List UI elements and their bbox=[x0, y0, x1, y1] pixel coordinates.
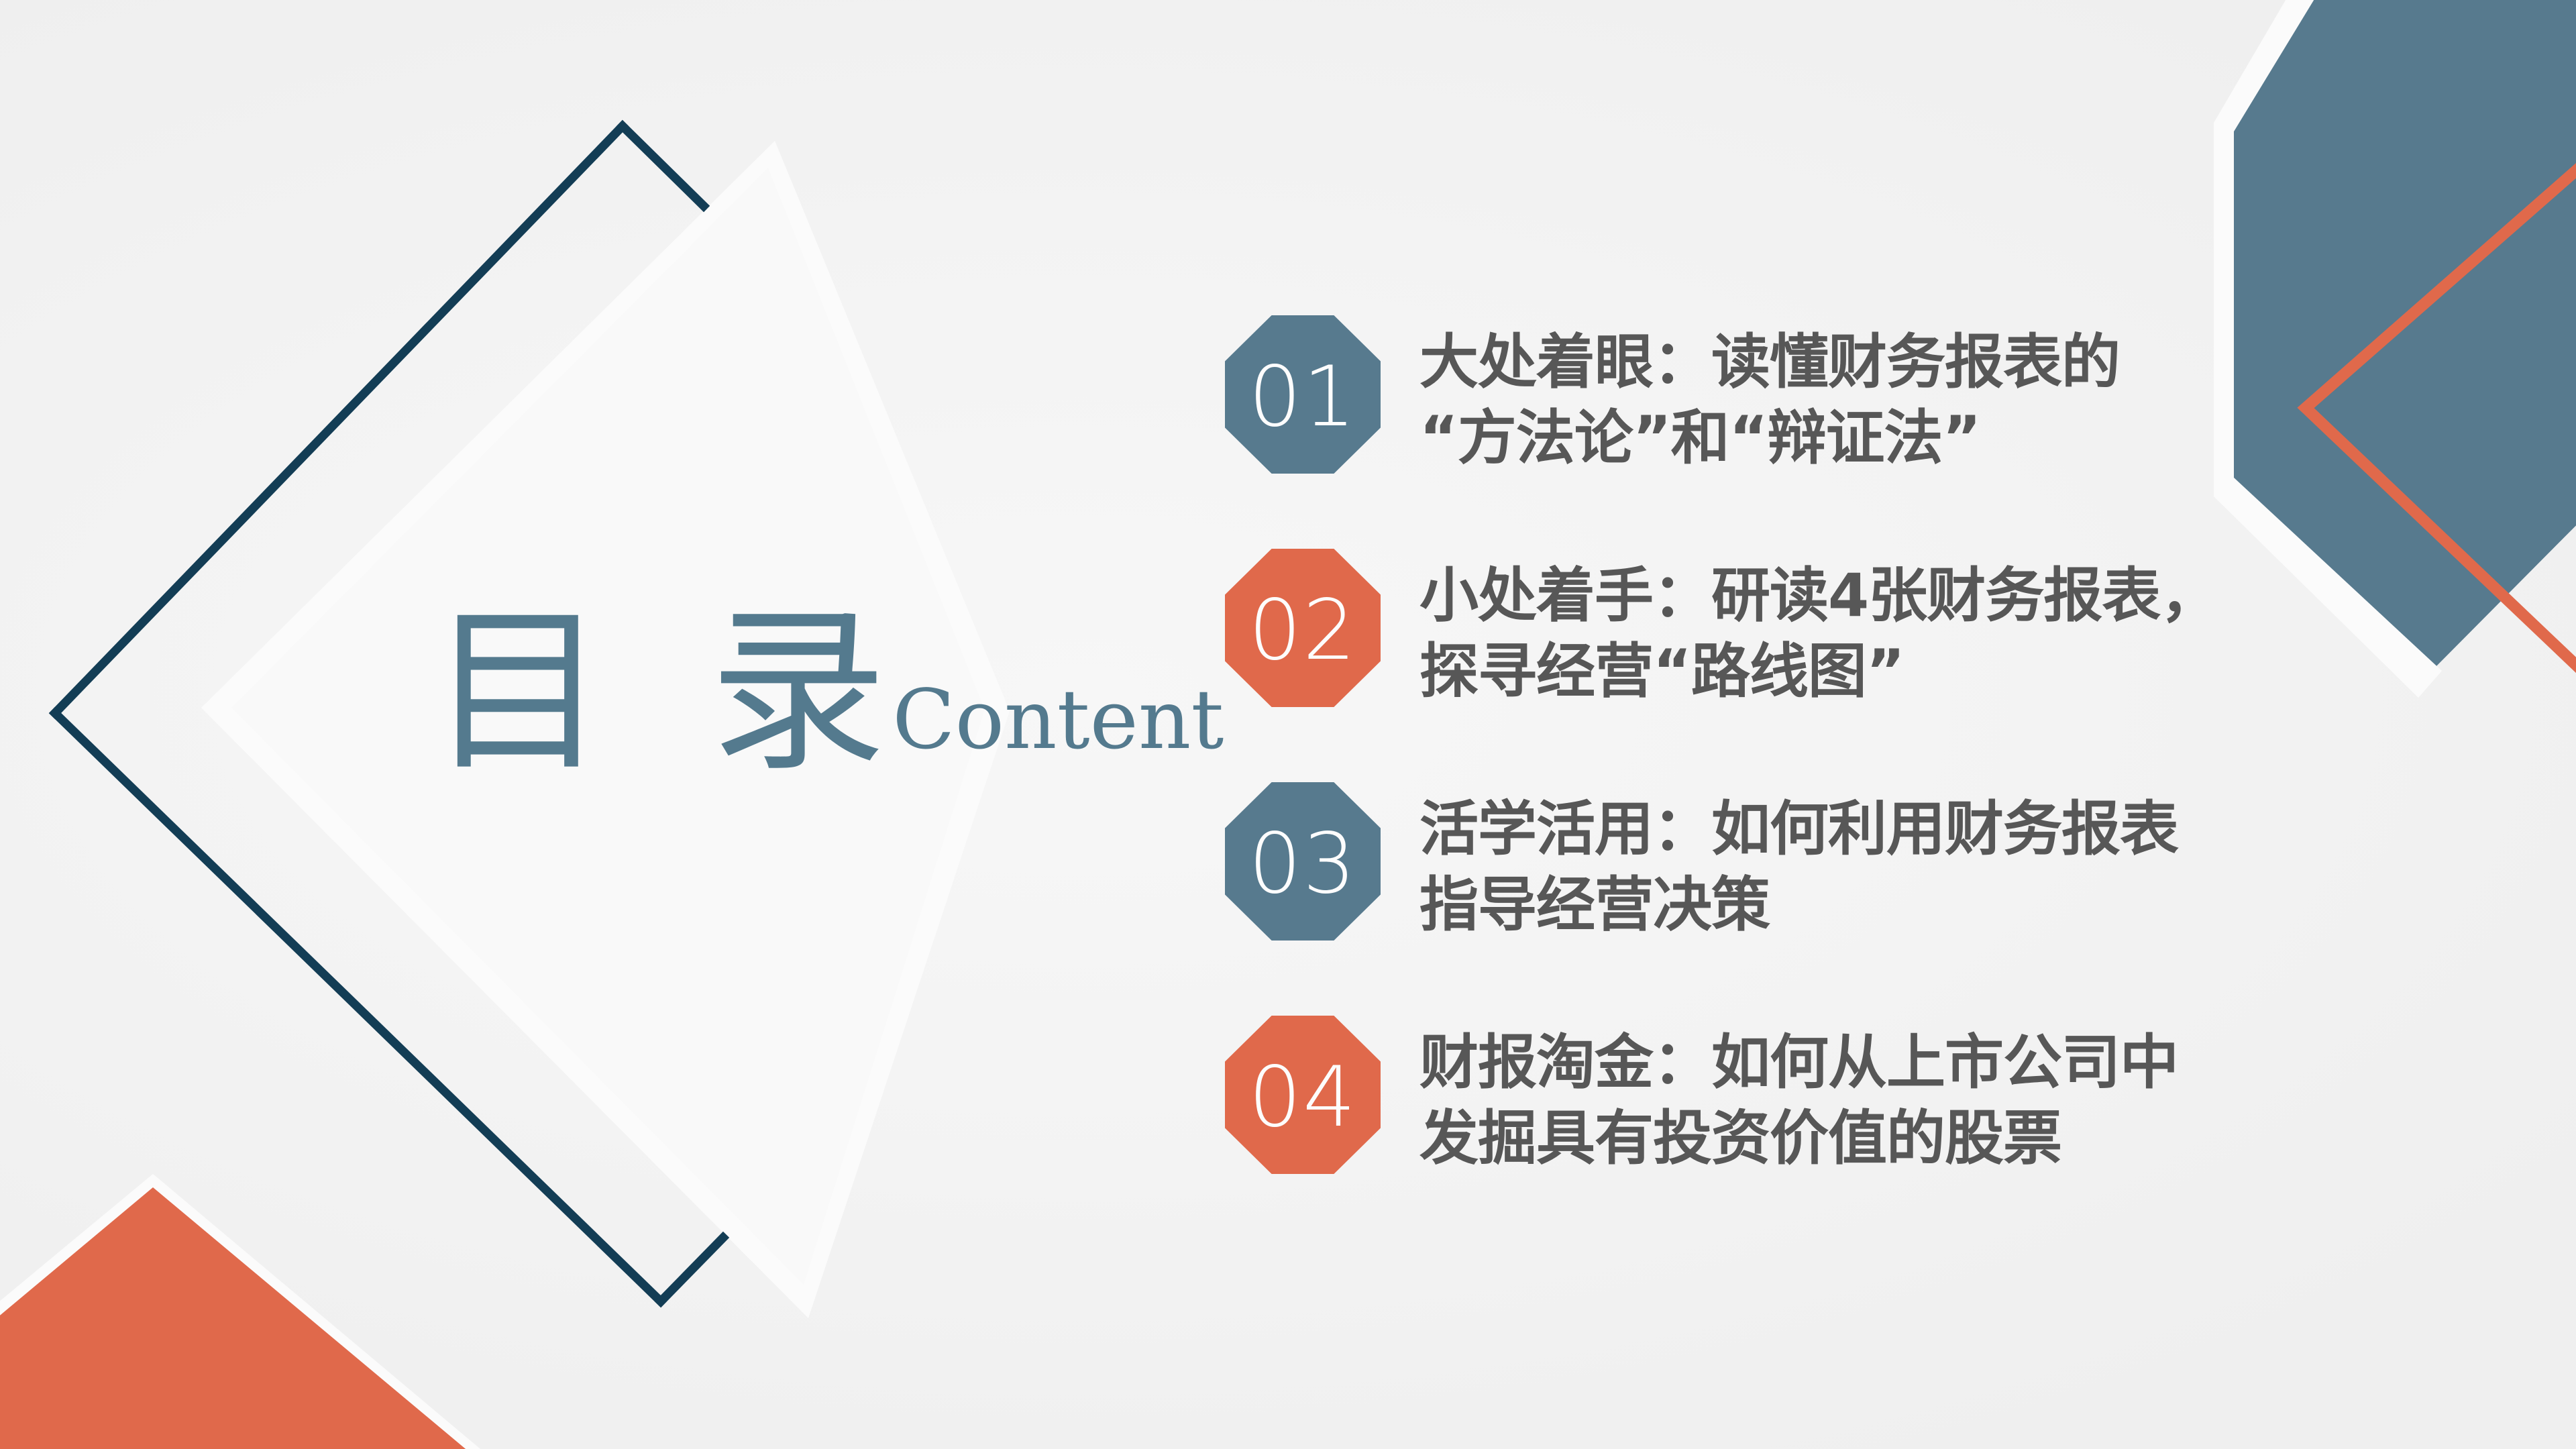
agenda-number-01: 01 bbox=[1248, 356, 1357, 439]
agenda-text-03-line2: 指导经营决策 bbox=[1419, 867, 2178, 943]
agenda-text-04-line2: 发掘具有投资价值的股票 bbox=[1419, 1101, 2178, 1177]
agenda-item-04[interactable]: 04 财报淘金：如何从上市公司中 发掘具有投资价值的股票 bbox=[1225, 1016, 2325, 1249]
agenda-text-01-line2: “方法论”和“辩证法” bbox=[1419, 400, 2120, 476]
agenda-text-04: 财报淘金：如何从上市公司中 发掘具有投资价值的股票 bbox=[1419, 1016, 2178, 1176]
agenda-number-04: 04 bbox=[1248, 1056, 1357, 1139]
agenda-number-03: 03 bbox=[1248, 822, 1357, 906]
agenda-item-03[interactable]: 03 活学活用：如何利用财务报表 指导经营决策 bbox=[1225, 782, 2325, 1016]
agenda-list: 01 大处着眼：读懂财务报表的 “方法论”和“辩证法” 02 小处着手：研读4张… bbox=[1225, 315, 2325, 1249]
agenda-text-04-line1: 财报淘金：如何从上市公司中 bbox=[1419, 1028, 2178, 1097]
agenda-text-01: 大处着眼：读懂财务报表的 “方法论”和“辩证法” bbox=[1419, 315, 2120, 476]
agenda-badge-octagon-03[interactable]: 03 bbox=[1225, 782, 1381, 941]
agenda-text-03: 活学活用：如何利用财务报表 指导经营决策 bbox=[1419, 782, 2178, 943]
slide-canvas: 目 录 Content 01 大处着眼：读懂财务报表的 “方法论”和“辩证法” … bbox=[0, 0, 2576, 1449]
bottom-left-orange-triangle bbox=[0, 1187, 482, 1449]
agenda-badge-octagon-02[interactable]: 02 bbox=[1225, 549, 1381, 707]
page-title: 目 录 Content bbox=[429, 604, 1221, 832]
agenda-text-01-line1: 大处着眼：读懂财务报表的 bbox=[1419, 327, 2120, 396]
agenda-text-02: 小处着手：研读4张财务报表， 探寻经营“路线图” bbox=[1419, 549, 2218, 709]
agenda-text-03-line1: 活学活用：如何利用财务报表 bbox=[1419, 794, 2178, 863]
page-title-en: Content bbox=[892, 679, 1224, 761]
page-title-cn: 目 录 bbox=[429, 604, 910, 782]
agenda-item-02[interactable]: 02 小处着手：研读4张财务报表， 探寻经营“路线图” bbox=[1225, 549, 2325, 782]
agenda-number-02: 02 bbox=[1248, 589, 1357, 672]
agenda-item-01[interactable]: 01 大处着眼：读懂财务报表的 “方法论”和“辩证法” bbox=[1225, 315, 2325, 549]
agenda-text-02-line1: 小处着手：研读4张财务报表， bbox=[1419, 561, 2218, 630]
agenda-text-02-line2: 探寻经营“路线图” bbox=[1419, 634, 2218, 710]
agenda-badge-octagon-01[interactable]: 01 bbox=[1225, 315, 1381, 474]
agenda-badge-octagon-04[interactable]: 04 bbox=[1225, 1016, 1381, 1174]
